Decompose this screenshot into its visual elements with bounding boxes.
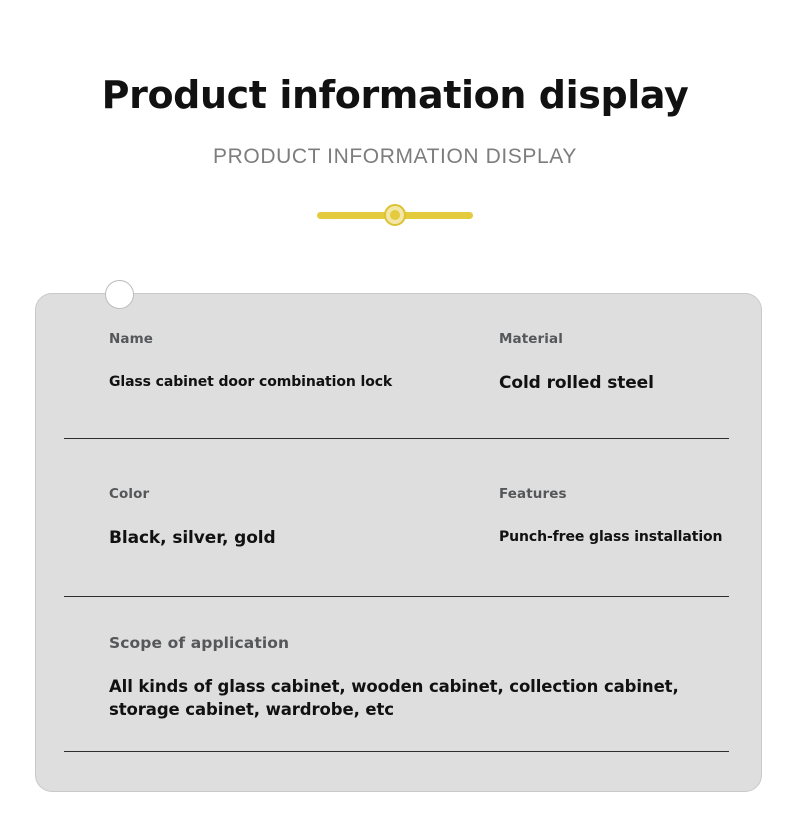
spec-divider bbox=[64, 596, 729, 597]
spec-label-scope: Scope of application bbox=[109, 634, 731, 653]
ornament-dot-icon bbox=[390, 210, 400, 220]
spec-cell-features: Features Punch-free glass installation bbox=[499, 486, 731, 549]
spec-divider bbox=[64, 438, 729, 439]
spec-row: Scope of application All kinds of glass … bbox=[109, 634, 731, 721]
spec-value-scope-line-2: storage cabinet, wardrobe, etc bbox=[109, 698, 731, 721]
spec-value-features: Punch-free glass installation bbox=[499, 527, 731, 547]
ornament-ring-icon bbox=[384, 204, 406, 226]
spec-row: Color Black, silver, gold Features Punch… bbox=[109, 486, 731, 549]
spec-table: Name Glass cabinet door combination lock… bbox=[36, 294, 763, 793]
product-spec-card: Name Glass cabinet door combination lock… bbox=[35, 293, 762, 792]
spec-label-features: Features bbox=[499, 486, 731, 503]
spec-row: Name Glass cabinet door combination lock… bbox=[109, 331, 731, 394]
spec-value-name: Glass cabinet door combination lock bbox=[109, 372, 499, 392]
page-title: Product information display bbox=[0, 0, 790, 118]
page-header: Product information display PRODUCT INFO… bbox=[0, 0, 790, 170]
gold-divider-ornament bbox=[0, 203, 790, 227]
ornament-bar-right-icon bbox=[397, 212, 473, 219]
spec-value-color: Black, silver, gold bbox=[109, 527, 499, 549]
spec-label-material: Material bbox=[499, 331, 731, 348]
spec-label-name: Name bbox=[109, 331, 499, 348]
spec-cell-scope: Scope of application All kinds of glass … bbox=[109, 634, 731, 721]
spec-divider bbox=[64, 751, 729, 752]
ornament-bar-left-icon bbox=[317, 212, 393, 219]
spec-cell-color: Color Black, silver, gold bbox=[109, 486, 499, 549]
spec-label-color: Color bbox=[109, 486, 499, 503]
spec-cell-name: Name Glass cabinet door combination lock bbox=[109, 331, 499, 394]
spec-cell-material: Material Cold rolled steel bbox=[499, 331, 731, 394]
spec-value-material: Cold rolled steel bbox=[499, 372, 731, 394]
page-subtitle: PRODUCT INFORMATION DISPLAY bbox=[0, 118, 790, 170]
spec-value-scope: All kinds of glass cabinet, wooden cabin… bbox=[109, 675, 731, 721]
spec-value-scope-line-1: All kinds of glass cabinet, wooden cabin… bbox=[109, 675, 731, 698]
